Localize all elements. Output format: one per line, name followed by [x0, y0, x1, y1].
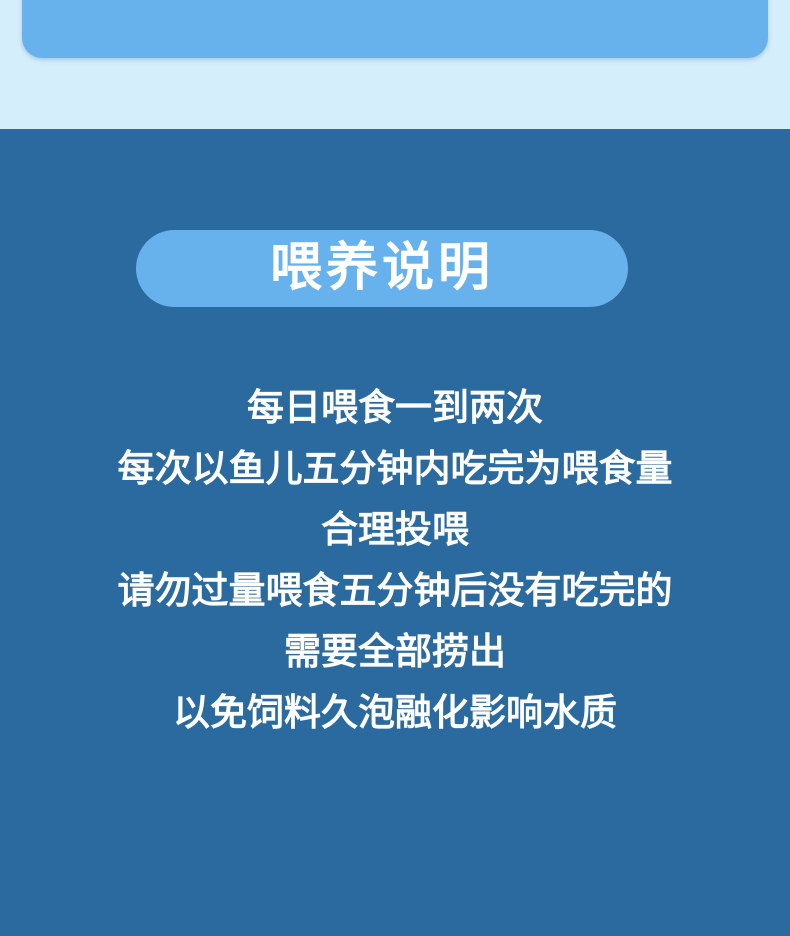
page-title: 喂养说明: [270, 242, 494, 294]
instruction-line: 以免饲料久泡融化影响水质: [0, 682, 790, 743]
section-title-pill: 喂养说明: [136, 230, 628, 307]
instruction-line: 每日喂食一到两次: [0, 377, 790, 438]
top-light-band: [0, 0, 790, 129]
instruction-line: 请勿过量喂食五分钟后没有吃完的: [0, 560, 790, 621]
feeding-instructions-text: 每日喂食一到两次 每次以鱼儿五分钟内吃完为喂食量 合理投喂 请勿过量喂食五分钟后…: [0, 377, 790, 743]
instruction-line: 需要全部捞出: [0, 621, 790, 682]
instruction-line: 合理投喂: [0, 499, 790, 560]
instruction-line: 每次以鱼儿五分钟内吃完为喂食量: [0, 438, 790, 499]
product-detail-page: 喂养说明 每日喂食一到两次 每次以鱼儿五分钟内吃完为喂食量 合理投喂 请勿过量喂…: [0, 0, 790, 936]
top-banner-card: [22, 0, 768, 58]
